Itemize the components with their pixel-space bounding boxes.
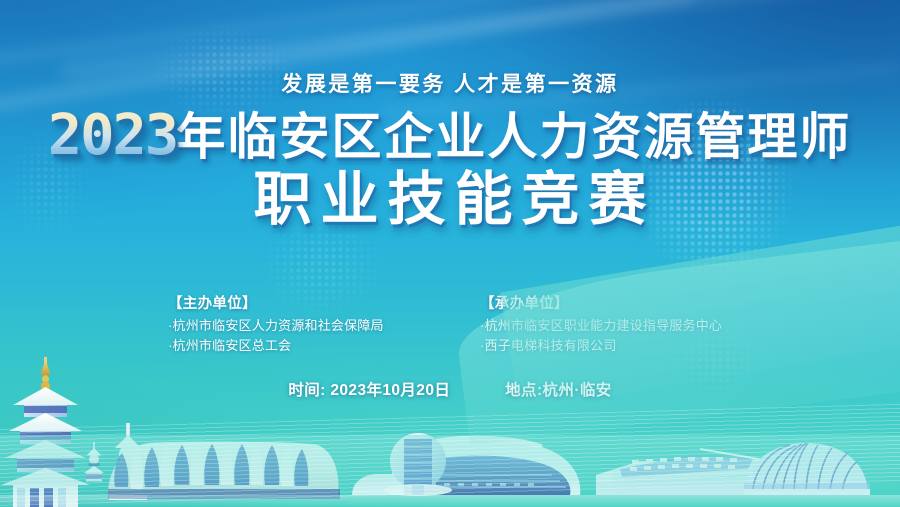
light-ray (0, 0, 696, 119)
host-organizer-block: 【主办单位】 ·杭州市临安区人力资源和社会保障局 ·杭州市临安区总工会 (168, 292, 384, 356)
title-line-1: 2023 年临安区企业人力资源管理师 (49, 108, 852, 164)
co-organizer-block: 【承办单位】 ·杭州市临安区职业能力建设指导服务中心 ·西子电梯科技有限公司 (480, 292, 722, 356)
co-organizer-item: ·西子电梯科技有限公司 (480, 336, 722, 356)
host-organizer-item: ·杭州市临安区总工会 (168, 336, 384, 356)
poster-title: 2023 年临安区企业人力资源管理师 职业技能竞赛 (0, 108, 900, 231)
title-year: 2023 (47, 108, 176, 164)
title-line-1-text: 年临安区企业人力资源管理师 (175, 112, 851, 162)
poster-subtitle: 发展是第一要务 人才是第一资源 (0, 68, 900, 98)
light-ray (0, 0, 598, 65)
title-line-2: 职业技能竞赛 (0, 170, 900, 231)
host-organizer-heading: 【主办单位】 (168, 292, 384, 313)
city-skyline-illustration (0, 357, 900, 507)
co-organizer-heading: 【承办单位】 (480, 292, 722, 313)
host-organizer-item: ·杭州市临安区人力资源和社会保障局 (168, 316, 384, 336)
poster-canvas: 发展是第一要务 人才是第一资源 2023 年临安区企业人力资源管理师 职业技能竞… (0, 0, 900, 507)
co-organizer-item: ·杭州市临安区职业能力建设指导服务中心 (480, 316, 722, 336)
